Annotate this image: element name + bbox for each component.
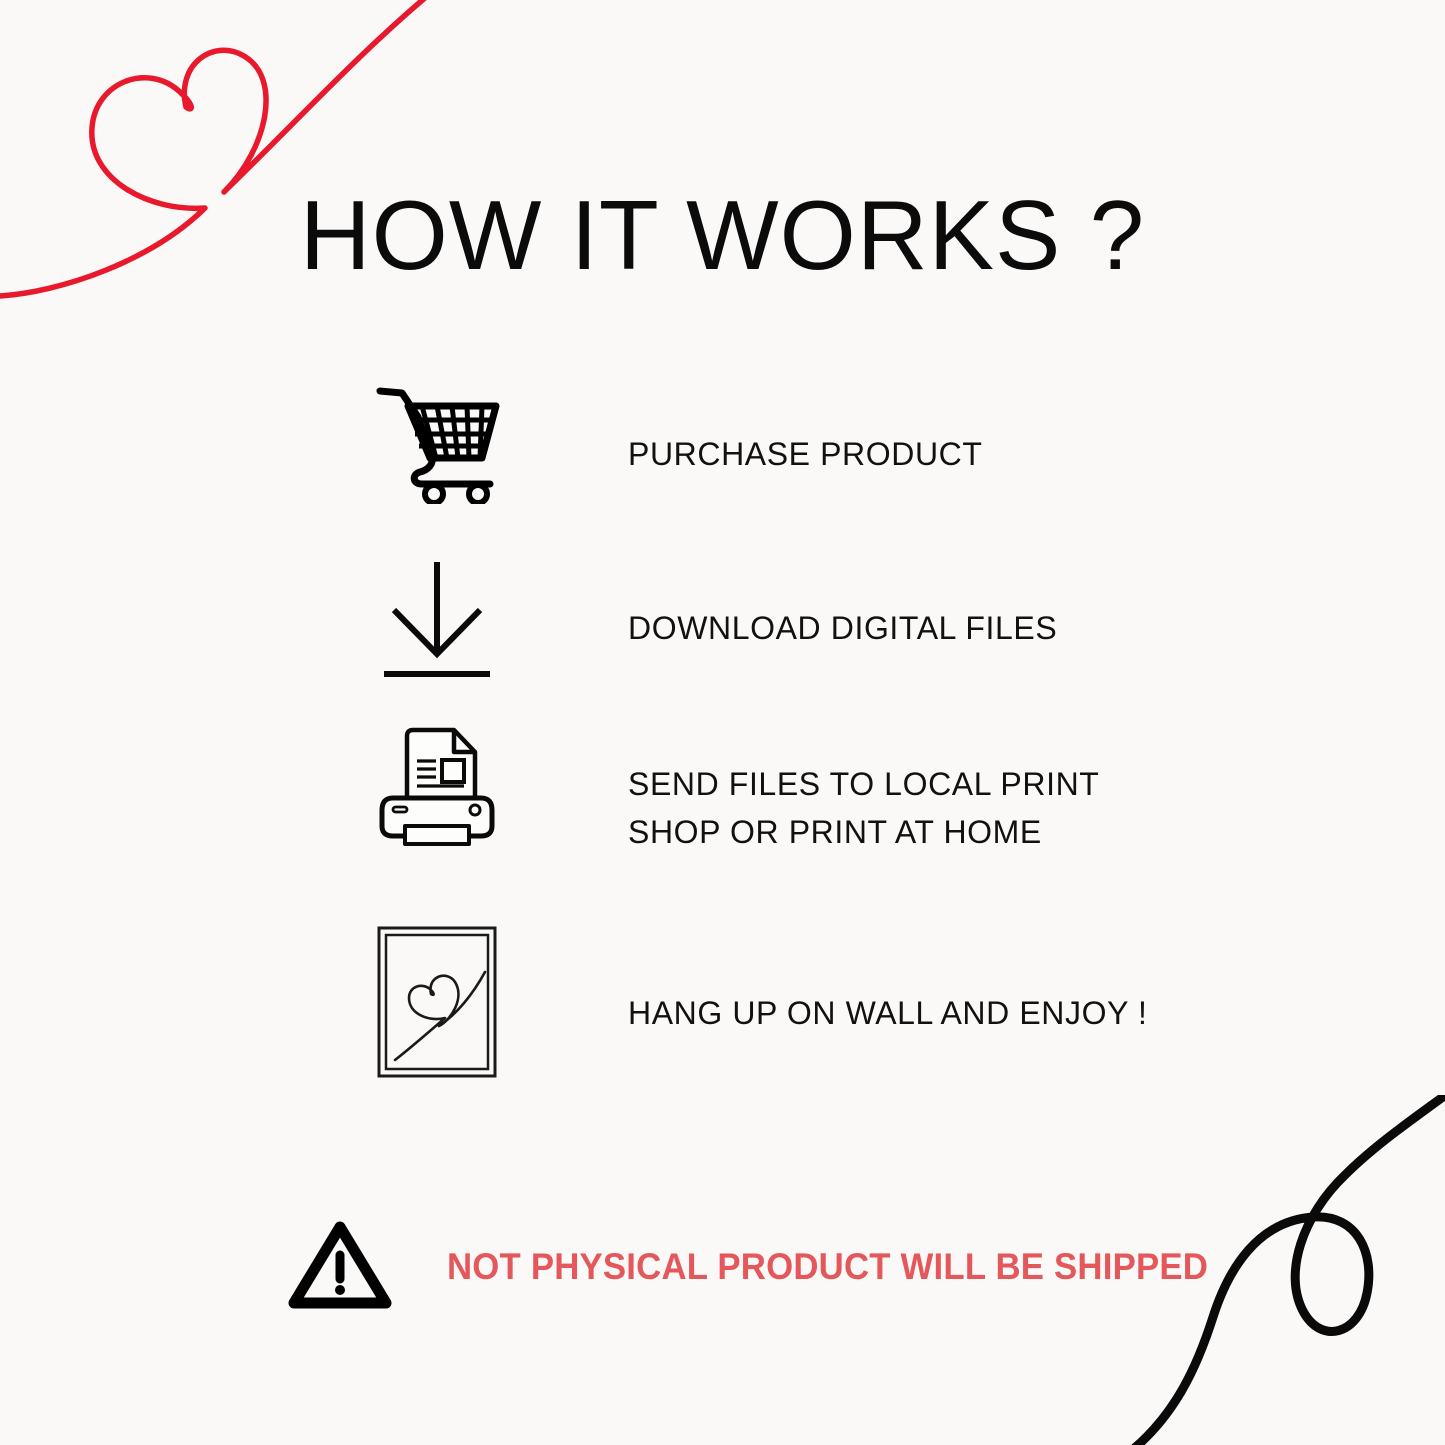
download-arrow-icon xyxy=(378,558,496,680)
printer-icon-wrap xyxy=(362,722,512,848)
how-it-works-infographic: HOW IT WORKS ? xyxy=(0,0,1445,1445)
step-label-download: DOWNLOAD DIGITAL FILES xyxy=(628,604,1057,652)
shopping-cart-icon-wrap xyxy=(362,382,512,504)
framed-heart-art-icon xyxy=(373,922,501,1082)
warning-triangle-icon xyxy=(288,1219,392,1311)
notice-text: NOT PHYSICAL PRODUCT WILL BE SHIPPED xyxy=(447,1246,1208,1288)
page-title: HOW IT WORKS ? xyxy=(0,186,1445,284)
step-label-purchase: PURCHASE PRODUCT xyxy=(628,430,983,478)
framed-heart-art-icon-wrap xyxy=(362,922,512,1082)
step-label-print: SEND FILES TO LOCAL PRINT SHOP OR PRINT … xyxy=(628,760,1099,856)
download-arrow-icon-wrap xyxy=(362,558,512,680)
step-label-hang: HANG UP ON WALL AND ENJOY ! xyxy=(628,989,1147,1037)
printer-icon xyxy=(374,722,500,848)
shopping-cart-icon xyxy=(372,382,502,504)
